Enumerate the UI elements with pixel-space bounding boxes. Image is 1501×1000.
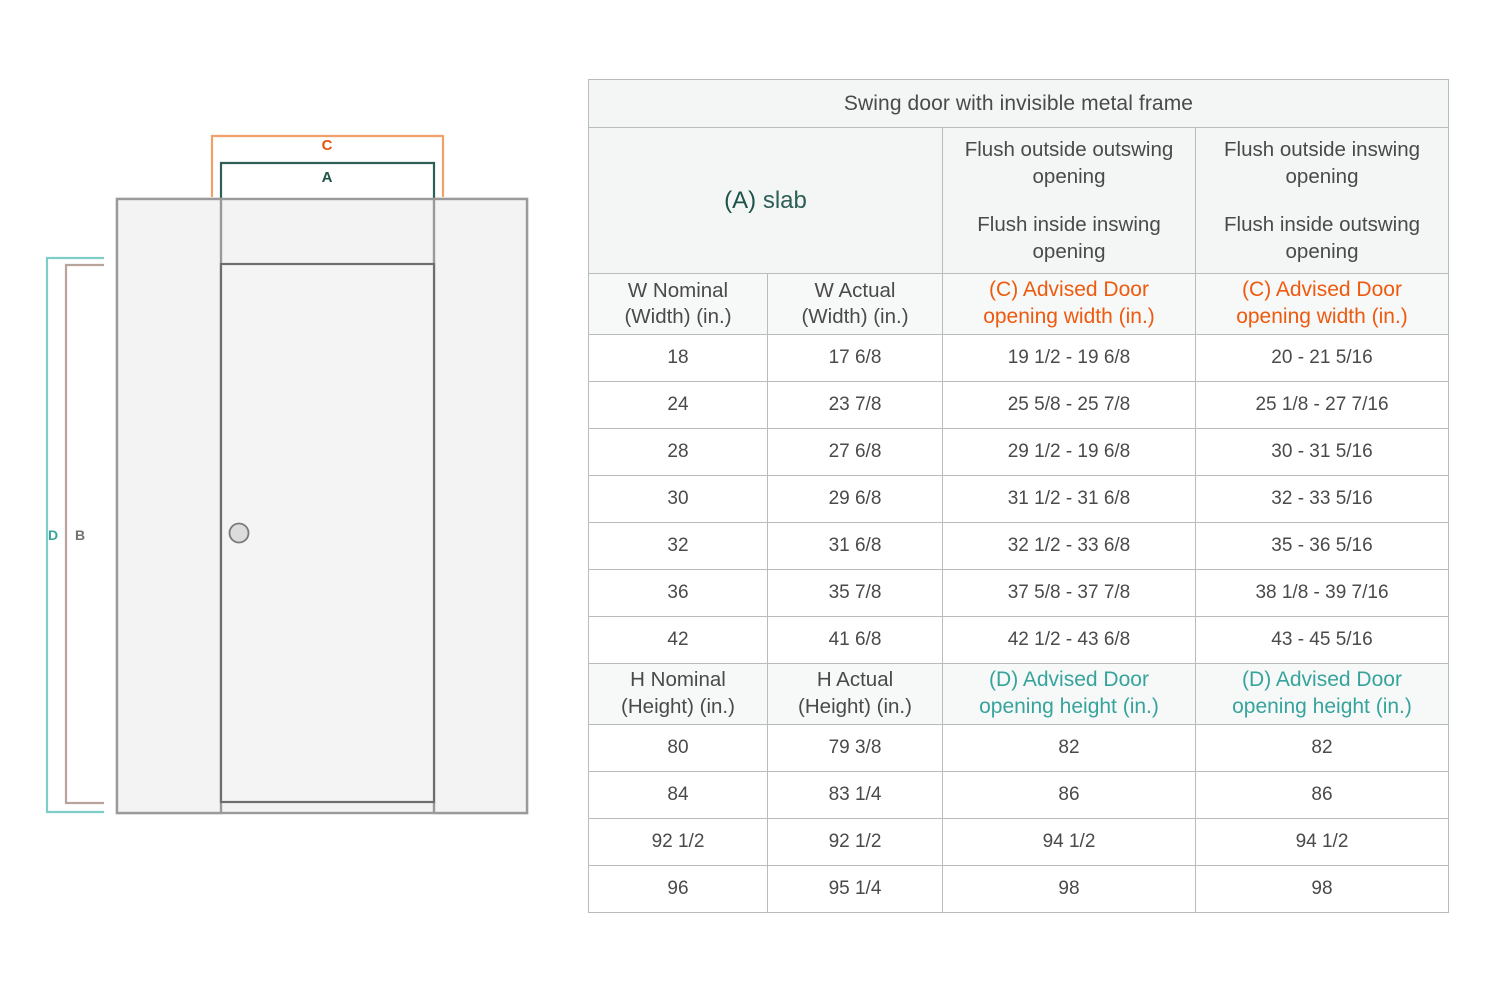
cell-c-outswing: 19 1/2 - 19 6/8 <box>943 334 1196 381</box>
group-header-outswing-line2: Flush inside inswing opening <box>951 211 1187 265</box>
group-header-outswing-line1: Flush outside outswing opening <box>965 138 1174 188</box>
door-jamb-right <box>434 199 527 813</box>
cell-h-nominal: 80 <box>589 724 768 771</box>
header-c-width-inswing: (C) Advised Door opening width (in.) <box>1196 274 1449 335</box>
header-h-actual-l1: H Actual <box>817 668 893 691</box>
cell-h-nominal: 84 <box>589 771 768 818</box>
cell-w-actual: 23 7/8 <box>768 381 943 428</box>
header-d-height-inswing: (D) Advised Door opening height (in.) <box>1196 663 1449 724</box>
cell-d-inswing: 82 <box>1196 724 1449 771</box>
cell-c-outswing: 25 5/8 - 25 7/8 <box>943 381 1196 428</box>
group-header-inswing-line1: Flush outside inswing opening <box>1224 138 1420 188</box>
cell-c-inswing: 25 1/8 - 27 7/16 <box>1196 381 1449 428</box>
header-d-height-outswing-l1: (D) Advised Door <box>989 668 1149 691</box>
cell-w-actual: 27 6/8 <box>768 428 943 475</box>
cell-h-actual: 79 3/8 <box>768 724 943 771</box>
cell-w-nominal: 30 <box>589 475 768 522</box>
door-diagram: C A D B <box>0 0 575 1000</box>
cell-d-inswing: 98 <box>1196 865 1449 912</box>
cell-d-outswing: 94 1/2 <box>943 818 1196 865</box>
slab-tag: (A) <box>724 187 756 214</box>
cell-w-actual: 41 6/8 <box>768 616 943 663</box>
table-group-header-row: (A) slab Flush outside outswing opening … <box>589 128 1449 274</box>
dimension-label-d: D <box>48 527 58 543</box>
cell-d-inswing: 86 <box>1196 771 1449 818</box>
header-d-height-inswing-l2: opening height (in.) <box>1232 695 1412 718</box>
cell-w-nominal: 24 <box>589 381 768 428</box>
header-h-nominal-l2: (Height) (in.) <box>621 695 735 718</box>
door-slab <box>221 264 434 802</box>
header-h-nominal-l1: H Nominal <box>630 668 726 691</box>
cell-c-inswing: 32 - 33 5/16 <box>1196 475 1449 522</box>
cell-d-outswing: 86 <box>943 771 1196 818</box>
table-row: 30 29 6/8 31 1/2 - 31 6/8 32 - 33 5/16 <box>589 475 1449 522</box>
header-w-actual-l2: (Width) (in.) <box>801 305 908 328</box>
cell-w-nominal: 18 <box>589 334 768 381</box>
header-c-width-outswing-l2: opening width (in.) <box>983 305 1155 328</box>
dimension-label-a: A <box>322 169 333 186</box>
cell-w-actual: 31 6/8 <box>768 522 943 569</box>
header-d-height-inswing-l1: (D) Advised Door <box>1242 668 1402 691</box>
cell-h-nominal: 92 1/2 <box>589 818 768 865</box>
cell-h-actual: 83 1/4 <box>768 771 943 818</box>
cell-c-inswing: 43 - 45 5/16 <box>1196 616 1449 663</box>
cell-c-inswing: 38 1/8 - 39 7/16 <box>1196 569 1449 616</box>
header-c-width-inswing-l2: opening width (in.) <box>1236 305 1408 328</box>
table-row: 28 27 6/8 29 1/2 - 19 6/8 30 - 31 5/16 <box>589 428 1449 475</box>
cell-d-outswing: 82 <box>943 724 1196 771</box>
header-c-width-outswing-l1: (C) Advised Door <box>989 278 1149 301</box>
table-row: 32 31 6/8 32 1/2 - 33 6/8 35 - 36 5/16 <box>589 522 1449 569</box>
cell-c-outswing: 37 5/8 - 37 7/8 <box>943 569 1196 616</box>
header-w-actual: W Actual (Width) (in.) <box>768 274 943 335</box>
header-h-actual-l2: (Height) (in.) <box>798 695 912 718</box>
header-d-height-outswing-l2: opening height (in.) <box>979 695 1159 718</box>
slab-label: slab <box>763 187 807 214</box>
header-w-nominal-l2: (Width) (in.) <box>624 305 731 328</box>
cell-c-outswing: 29 1/2 - 19 6/8 <box>943 428 1196 475</box>
cell-w-actual: 17 6/8 <box>768 334 943 381</box>
cell-w-nominal: 36 <box>589 569 768 616</box>
cell-h-nominal: 96 <box>589 865 768 912</box>
header-w-actual-l1: W Actual <box>815 279 896 302</box>
height-header-row: H Nominal (Height) (in.) H Actual (Heigh… <box>589 663 1449 724</box>
door-diagram-svg: C A D B <box>0 0 575 1000</box>
spec-table: Swing door with invisible metal frame (A… <box>588 79 1449 913</box>
table-row: 42 41 6/8 42 1/2 - 43 6/8 43 - 45 5/16 <box>589 616 1449 663</box>
header-d-height-outswing: (D) Advised Door opening height (in.) <box>943 663 1196 724</box>
cell-c-outswing: 31 1/2 - 31 6/8 <box>943 475 1196 522</box>
table-row: 84 83 1/4 86 86 <box>589 771 1449 818</box>
group-header-inswing-line2: Flush inside outswing opening <box>1204 211 1440 265</box>
dimension-label-c: C <box>322 137 333 154</box>
table-row: 80 79 3/8 82 82 <box>589 724 1449 771</box>
header-c-width-outswing: (C) Advised Door opening width (in.) <box>943 274 1196 335</box>
table-row: 92 1/2 92 1/2 94 1/2 94 1/2 <box>589 818 1449 865</box>
header-h-actual: H Actual (Height) (in.) <box>768 663 943 724</box>
group-header-inswing: Flush outside inswing opening Flush insi… <box>1196 128 1449 274</box>
header-w-nominal-l1: W Nominal <box>628 279 728 302</box>
cell-w-actual: 35 7/8 <box>768 569 943 616</box>
table-row: 96 95 1/4 98 98 <box>589 865 1449 912</box>
spec-table-container: Swing door with invisible metal frame (A… <box>588 79 1448 913</box>
header-w-nominal: W Nominal (Width) (in.) <box>589 274 768 335</box>
cell-h-actual: 95 1/4 <box>768 865 943 912</box>
cell-d-outswing: 98 <box>943 865 1196 912</box>
group-header-slab: (A) slab <box>589 128 943 274</box>
cell-c-outswing: 42 1/2 - 43 6/8 <box>943 616 1196 663</box>
cell-c-outswing: 32 1/2 - 33 6/8 <box>943 522 1196 569</box>
header-h-nominal: H Nominal (Height) (in.) <box>589 663 768 724</box>
group-header-outswing: Flush outside outswing opening Flush ins… <box>943 128 1196 274</box>
table-row: 36 35 7/8 37 5/8 - 37 7/8 38 1/8 - 39 7/… <box>589 569 1449 616</box>
door-knob <box>230 524 249 543</box>
width-header-row: W Nominal (Width) (in.) W Actual (Width)… <box>589 274 1449 335</box>
dimension-label-b: B <box>75 527 85 543</box>
page-root: C A D B Swing door with invisible metal … <box>0 0 1501 1000</box>
cell-h-actual: 92 1/2 <box>768 818 943 865</box>
cell-c-inswing: 30 - 31 5/16 <box>1196 428 1449 475</box>
table-row: 18 17 6/8 19 1/2 - 19 6/8 20 - 21 5/16 <box>589 334 1449 381</box>
cell-c-inswing: 35 - 36 5/16 <box>1196 522 1449 569</box>
table-row: 24 23 7/8 25 5/8 - 25 7/8 25 1/8 - 27 7/… <box>589 381 1449 428</box>
cell-d-inswing: 94 1/2 <box>1196 818 1449 865</box>
cell-w-nominal: 28 <box>589 428 768 475</box>
cell-w-actual: 29 6/8 <box>768 475 943 522</box>
table-title-row: Swing door with invisible metal frame <box>589 80 1449 128</box>
cell-c-inswing: 20 - 21 5/16 <box>1196 334 1449 381</box>
cell-w-nominal: 42 <box>589 616 768 663</box>
header-c-width-inswing-l1: (C) Advised Door <box>1242 278 1402 301</box>
cell-w-nominal: 32 <box>589 522 768 569</box>
door-jamb-left <box>117 199 221 813</box>
table-title: Swing door with invisible metal frame <box>589 80 1449 128</box>
